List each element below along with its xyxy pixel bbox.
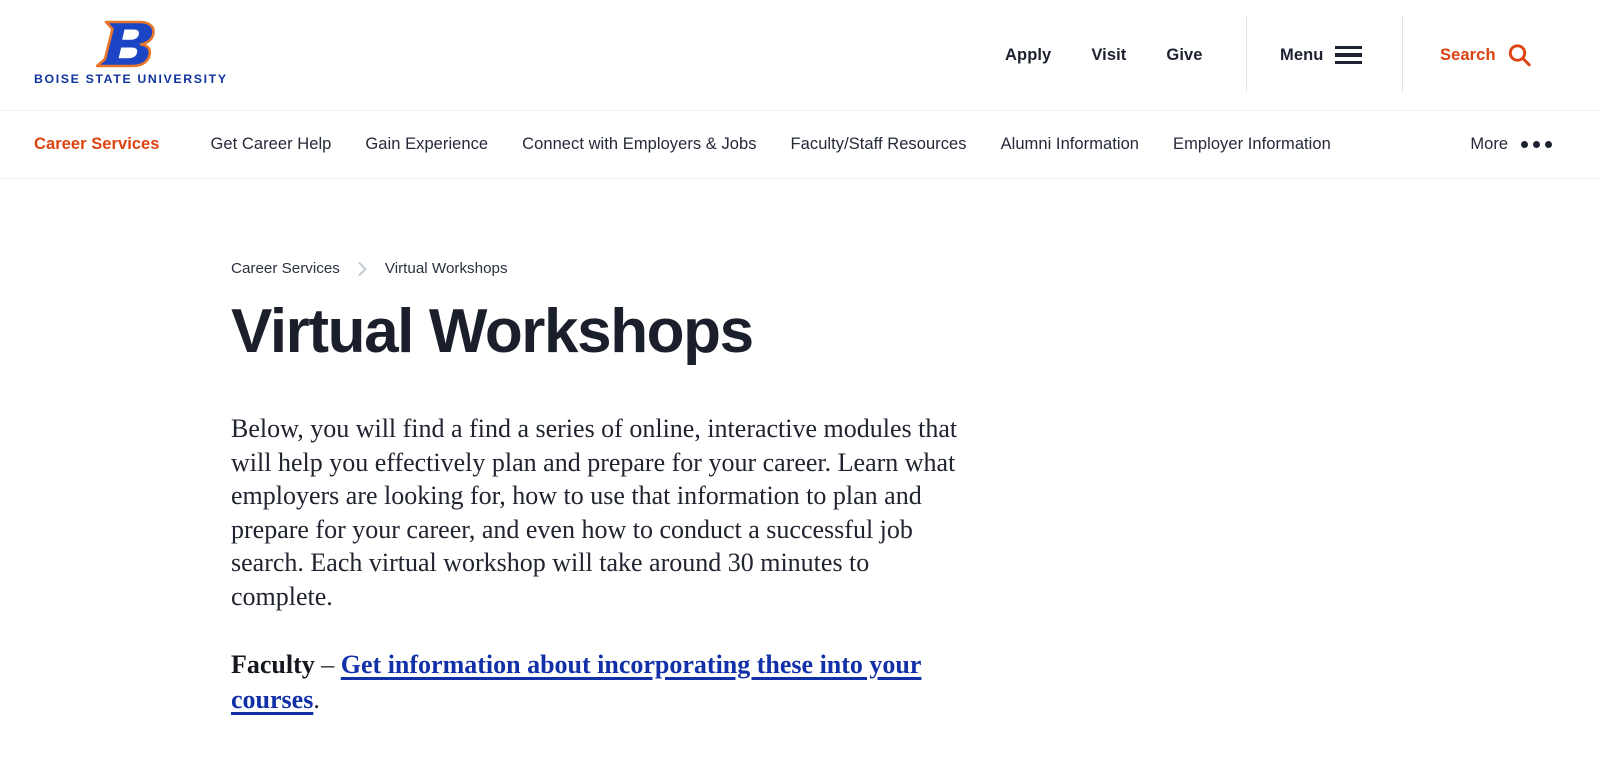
nav-more-label: More	[1470, 135, 1508, 154]
boise-state-b-mark	[96, 18, 160, 70]
nav-more-button[interactable]: More	[1470, 135, 1552, 154]
nav-item-employer-information[interactable]: Employer Information	[1156, 135, 1348, 154]
logo-wordmark: BOISE STATE UNIVERSITY	[34, 72, 224, 86]
page-title: Virtual Workshops	[231, 299, 1600, 364]
nav-item-get-career-help[interactable]: Get Career Help	[194, 135, 349, 154]
faculty-label: Faculty	[231, 650, 315, 679]
utility-link-visit[interactable]: Visit	[1071, 46, 1146, 65]
magnifier-icon	[1507, 43, 1532, 68]
search-toggle-label: Search	[1440, 46, 1496, 65]
menu-toggle-label: Menu	[1280, 46, 1323, 65]
intro-paragraph: Below, you will find a find a series of …	[231, 364, 976, 613]
ellipsis-icon	[1521, 141, 1552, 148]
hamburger-icon	[1335, 46, 1362, 65]
breadcrumb-link-career-services[interactable]: Career Services	[231, 260, 340, 277]
search-toggle-button[interactable]: Search	[1440, 0, 1532, 110]
section-nav: Career Services Get Career Help Gain Exp…	[0, 110, 1600, 179]
nav-item-connect-with-employers-jobs[interactable]: Connect with Employers & Jobs	[505, 135, 773, 154]
nav-item-alumni-information[interactable]: Alumni Information	[984, 135, 1156, 154]
boise-state-logo[interactable]: BOISE STATE UNIVERSITY	[34, 18, 224, 92]
nav-item-faculty-staff-resources[interactable]: Faculty/Staff Resources	[774, 135, 984, 154]
utility-nav: Apply Visit Give	[985, 0, 1223, 110]
faculty-trailing-period: .	[313, 685, 320, 714]
breadcrumb: Career Services Virtual Workshops	[231, 260, 1600, 277]
breadcrumb-current: Virtual Workshops	[385, 260, 508, 277]
nav-item-gain-experience[interactable]: Gain Experience	[348, 135, 505, 154]
header-divider-left	[1246, 16, 1247, 92]
utility-link-apply[interactable]: Apply	[985, 46, 1071, 65]
header-divider-right	[1402, 16, 1403, 92]
sidebar-item-career-services[interactable]: Career Services	[34, 135, 160, 154]
chevron-right-icon	[358, 262, 367, 276]
main-content: Career Services Virtual Workshops Virtua…	[0, 179, 1600, 717]
section-nav-items: Get Career Help Gain Experience Connect …	[194, 135, 1348, 154]
utility-link-give[interactable]: Give	[1146, 46, 1222, 65]
faculty-note: Faculty – Get information about incorpor…	[231, 613, 931, 717]
faculty-dash: –	[315, 650, 341, 679]
site-header: BOISE STATE UNIVERSITY Apply Visit Give …	[0, 0, 1600, 110]
menu-toggle-button[interactable]: Menu	[1280, 0, 1362, 110]
